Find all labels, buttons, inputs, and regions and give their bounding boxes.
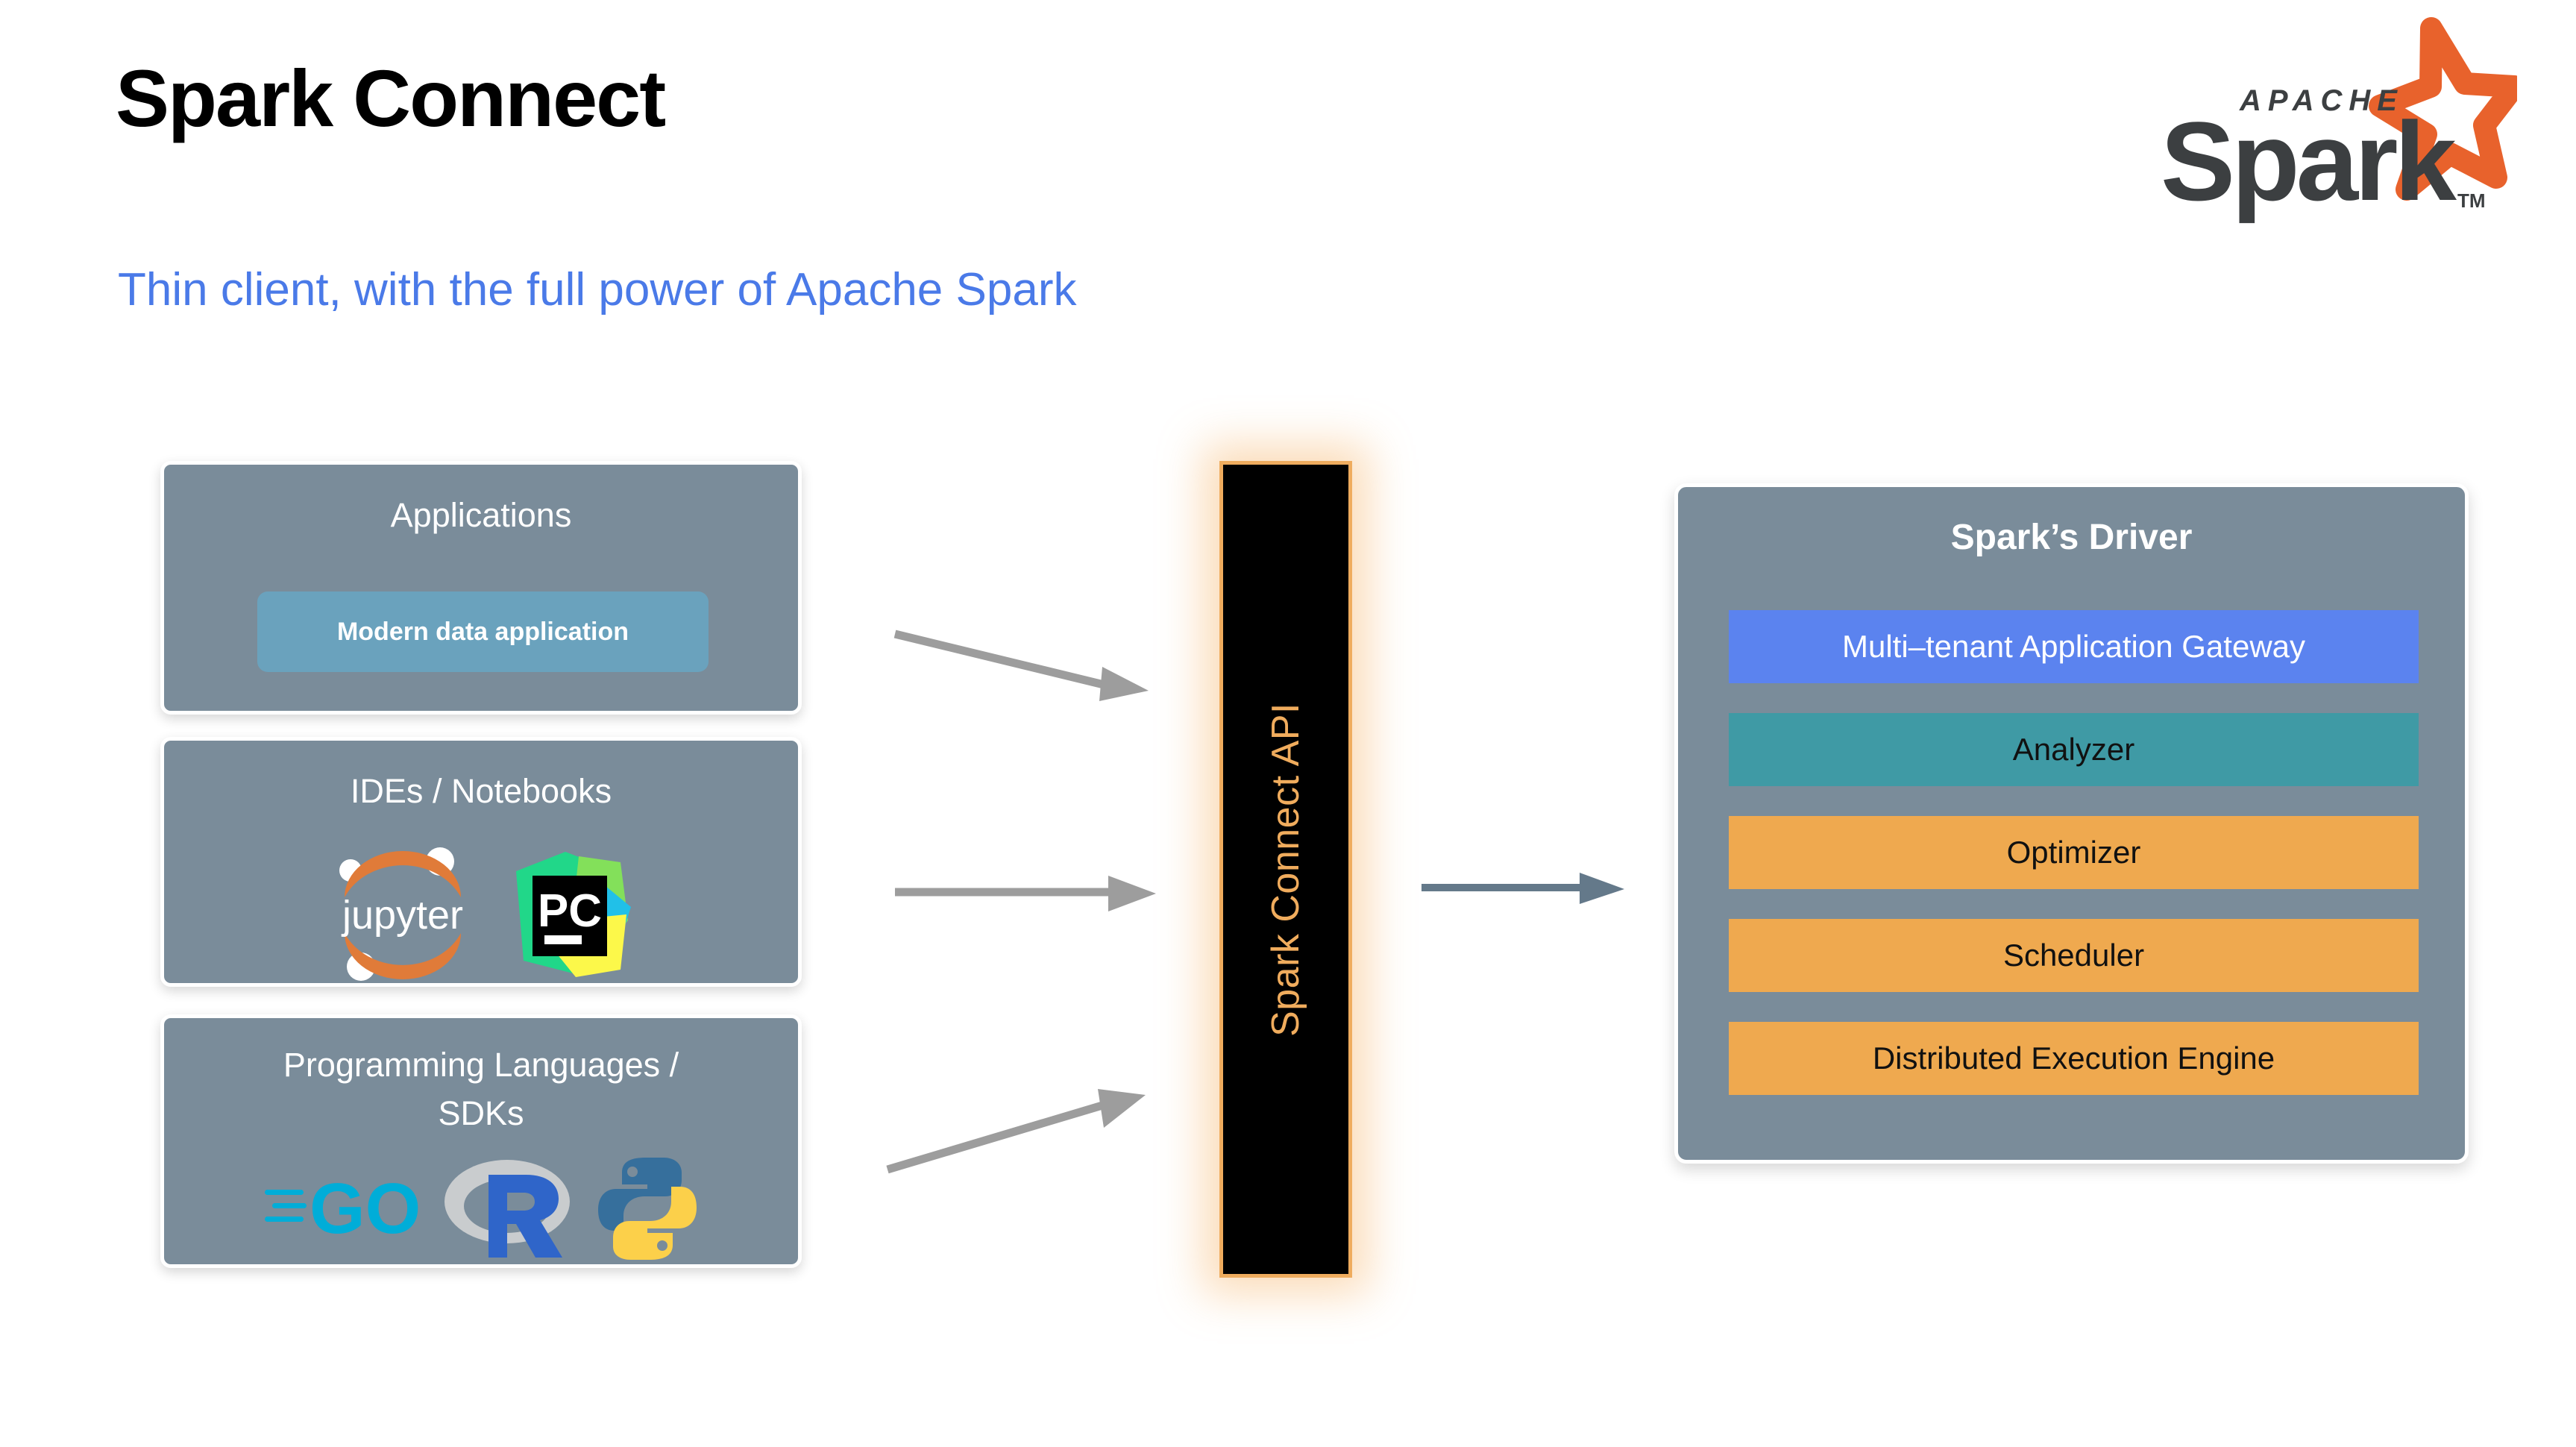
- card-programming-languages[interactable]: Programming Languages / SDKs GO: [160, 1014, 802, 1268]
- driver-stage-analyzer-label: Analyzer: [2013, 734, 2134, 765]
- arrow-applications-to-api: [888, 619, 1171, 716]
- driver-stage-execution-engine-label: Distributed Execution Engine: [1873, 1043, 2275, 1074]
- card-applications[interactable]: Applications Modern data application: [160, 461, 802, 715]
- spark-connect-api-bar[interactable]: Spark Connect API: [1219, 461, 1352, 1278]
- card-ides-notebooks[interactable]: IDEs / Notebooks jupyter PC: [160, 737, 802, 987]
- python-logo: [595, 1155, 700, 1266]
- driver-stage-optimizer[interactable]: Optimizer: [1729, 816, 2419, 889]
- driver-panel[interactable]: Spark’s Driver Multi–tenant Application …: [1674, 483, 2469, 1164]
- page-subtitle: Thin client, with the full power of Apac…: [118, 265, 1076, 316]
- card-languages-title-line2: SDKs: [164, 1093, 798, 1134]
- driver-stage-analyzer[interactable]: Analyzer: [1729, 713, 2419, 786]
- spark-connect-api-label: Spark Connect API: [1263, 703, 1308, 1037]
- go-logo: GO: [263, 1160, 420, 1261]
- ides-logo-row: jupyter PC: [164, 845, 798, 987]
- card-ides-title: IDEs / Notebooks: [164, 770, 798, 812]
- trademark-mark: TM: [2457, 189, 2486, 212]
- card-applications-title: Applications: [164, 495, 798, 536]
- driver-panel-title: Spark’s Driver: [1678, 517, 2465, 558]
- driver-stage-scheduler[interactable]: Scheduler: [1729, 919, 2419, 992]
- arrow-api-to-driver: [1417, 858, 1641, 932]
- spark-wordmark: Spark: [2161, 98, 2457, 224]
- driver-stage-optimizer-label: Optimizer: [2007, 837, 2141, 868]
- driver-stage-gateway[interactable]: Multi–tenant Application Gateway: [1729, 610, 2419, 683]
- driver-stage-scheduler-label: Scheduler: [2003, 940, 2144, 971]
- pycharm-pc-text: PC: [538, 885, 602, 937]
- apache-spark-logo: APACHE Spark TM: [2129, 15, 2517, 224]
- driver-stage-execution-engine[interactable]: Distributed Execution Engine: [1729, 1022, 2419, 1095]
- r-logo: [442, 1152, 573, 1268]
- jupyter-logo: jupyter: [328, 845, 477, 987]
- arrow-ides-to-api: [888, 865, 1171, 932]
- driver-stage-gateway-label: Multi–tenant Application Gateway: [1842, 631, 2305, 662]
- jupyter-wordmark: jupyter: [341, 893, 463, 938]
- arrow-languages-to-api: [880, 1059, 1171, 1178]
- languages-logo-row: GO: [164, 1152, 798, 1268]
- driver-stage-list: Multi–tenant Application Gateway Analyze…: [1729, 610, 2419, 1095]
- card-languages-title-line1: Programming Languages /: [164, 1044, 798, 1086]
- page-title: Spark Connect: [116, 56, 665, 140]
- go-wordmark: GO: [310, 1169, 420, 1249]
- chip-modern-data-application[interactable]: Modern data application: [257, 591, 709, 672]
- pycharm-logo: PC: [507, 849, 634, 983]
